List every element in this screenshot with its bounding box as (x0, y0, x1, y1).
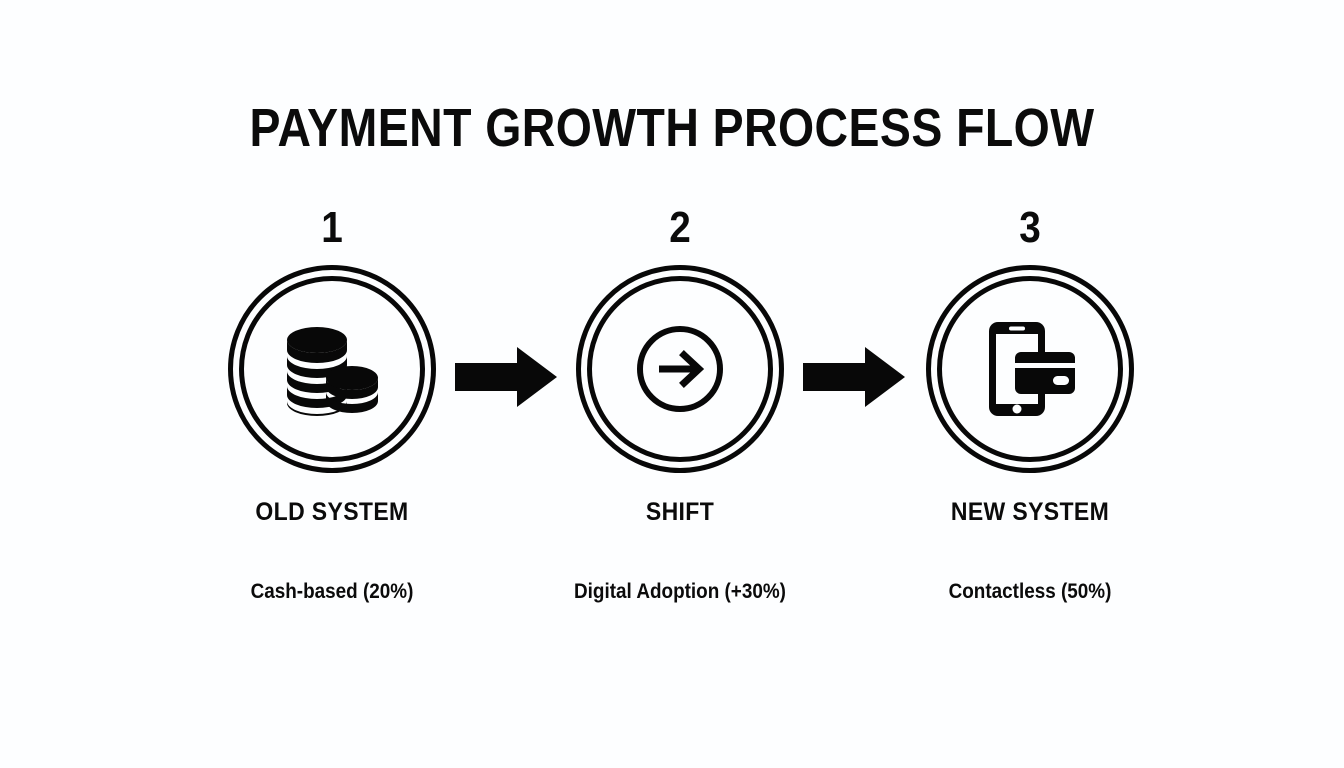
mobile-payment-card-icon (926, 265, 1134, 473)
step-label-3: NEW SYSTEM (892, 497, 1168, 527)
coins-stack-icon (228, 265, 436, 473)
process-steps: 1 (0, 205, 1344, 665)
process-step-2[interactable]: 2 SHIFT Digital Adoption (+30%) (530, 205, 830, 605)
block-arrow-right-icon (803, 347, 905, 407)
diagram-canvas: PAYMENT GROWTH PROCESS FLOW 1 (0, 0, 1344, 768)
step-metric-2: Digital Adoption (+30%) (545, 579, 815, 605)
step-circle-2[interactable] (576, 265, 784, 473)
connector-arrow-1 (455, 345, 559, 409)
step-metric-3: Contactless (50%) (895, 579, 1165, 605)
step-label-2: SHIFT (542, 497, 818, 527)
step-number-3: 3 (898, 205, 1162, 255)
connector-arrow-2 (803, 345, 907, 409)
process-step-1[interactable]: 1 (182, 205, 482, 605)
step-label-1: OLD SYSTEM (194, 497, 470, 527)
step-number-2: 2 (548, 205, 812, 255)
block-arrow-right-icon (455, 347, 557, 407)
step-number-1: 1 (200, 205, 464, 255)
step-circle-3[interactable] (926, 265, 1134, 473)
process-step-3[interactable]: 3 N (880, 205, 1180, 605)
step-circle-1[interactable] (228, 265, 436, 473)
step-metric-1: Cash-based (20%) (197, 579, 467, 605)
page-title: PAYMENT GROWTH PROCESS FLOW (94, 98, 1250, 158)
arrow-right-circle-icon (576, 265, 784, 473)
